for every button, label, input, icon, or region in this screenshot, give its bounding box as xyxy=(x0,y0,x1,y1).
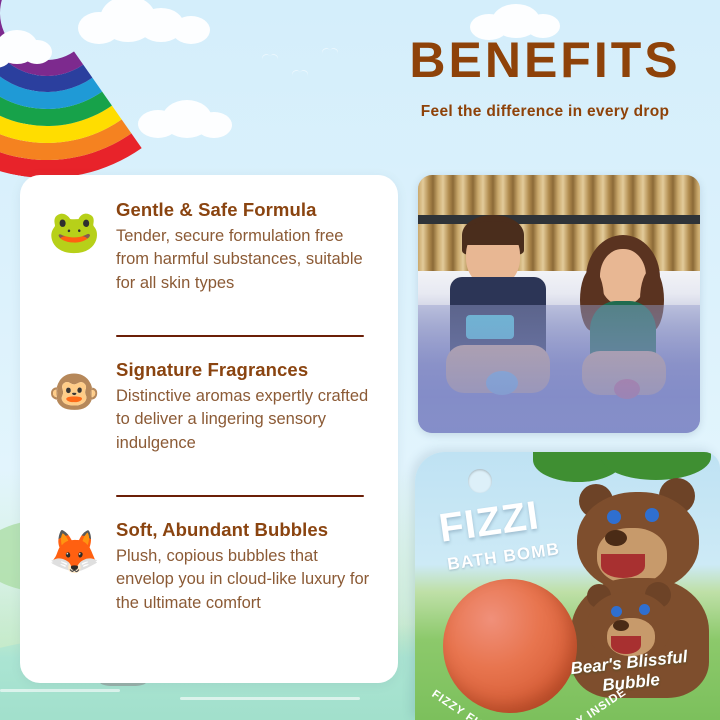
bird-icon xyxy=(262,54,278,62)
bird-icon xyxy=(322,48,338,56)
page-subtitle: Feel the difference in every drop xyxy=(380,103,710,121)
frog-face-icon: 🐸 xyxy=(48,207,98,257)
feature-description: Distinctive aromas expertly crafted to d… xyxy=(116,385,374,455)
monkey-face-icon: 🐵 xyxy=(48,367,98,417)
water-streak xyxy=(180,697,360,700)
page-title: BENEFITS xyxy=(380,34,710,87)
feature-divider xyxy=(116,335,364,337)
product-package: FIZZI BATH BOMB Bear's Blissful Bubble T… xyxy=(415,452,720,720)
feature-item-soft-abundant-bubbles: 🦊 Soft, Abundant Bubbles Plush, copious … xyxy=(44,519,374,635)
bird-icon xyxy=(292,70,308,78)
benefits-poster: BENEFITS Feel the difference in every dr… xyxy=(0,0,720,720)
feature-title: Gentle & Safe Formula xyxy=(116,199,374,221)
feature-description: Tender, secure formulation free from har… xyxy=(116,225,374,295)
header: BENEFITS Feel the difference in every dr… xyxy=(380,34,710,121)
feature-item-signature-fragrances: 🐵 Signature Fragrances Distinctive aroma… xyxy=(44,359,374,475)
feature-description: Plush, copious bubbles that envelop you … xyxy=(116,545,374,615)
bath-water xyxy=(418,305,700,433)
fox-face-icon: 🦊 xyxy=(48,527,98,577)
hang-hole xyxy=(468,469,492,493)
water-streak xyxy=(0,689,120,692)
benefits-card: 🐸 Gentle & Safe Formula Tender, secure f… xyxy=(20,175,398,683)
package-card: FIZZI BATH BOMB Bear's Blissful Bubble T… xyxy=(415,452,720,720)
feature-divider xyxy=(116,495,364,497)
feature-item-gentle-safe-formula: 🐸 Gentle & Safe Formula Tender, secure f… xyxy=(44,199,374,315)
feature-title: Signature Fragrances xyxy=(116,359,374,381)
lifestyle-photo xyxy=(418,175,700,433)
feature-title: Soft, Abundant Bubbles xyxy=(116,519,374,541)
